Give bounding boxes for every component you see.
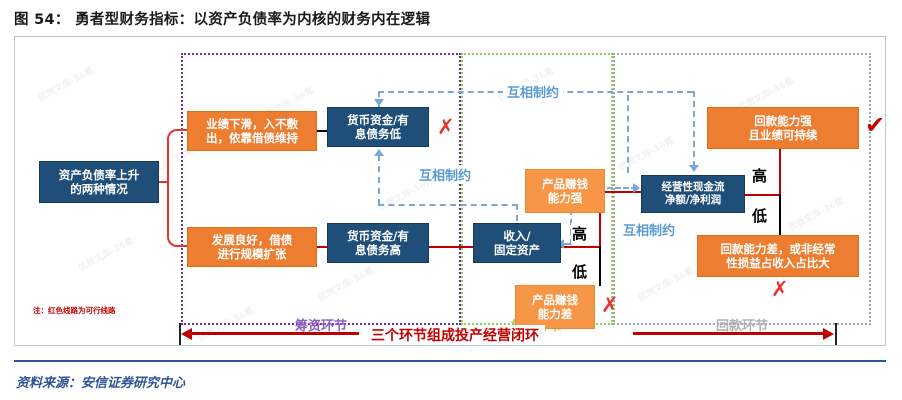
node-collection-strong-label: 回款能力强且业绩可持续	[749, 114, 818, 142]
node-collection-strong[interactable]: 回款能力强且业绩可持续	[707, 107, 859, 149]
footer-divider	[14, 360, 886, 362]
cross-icon-cash-low: ✗	[437, 117, 455, 138]
red-bracket	[167, 129, 185, 247]
cross-icon-product-weak: ✗	[601, 295, 619, 316]
edge-collsplit-down-bad	[779, 194, 781, 236]
mutual-restraint-right: 互相制约	[619, 220, 679, 239]
node-ocf-to-net-profit-label: 经营性现金流净额/净利润	[662, 181, 725, 207]
label-high-revfix: 高	[571, 223, 588, 244]
loop-tick-right	[835, 323, 837, 345]
node-performance-decline[interactable]: 业绩下滑，入不敷出，依靠借债维持	[187, 111, 317, 151]
edge-split-up-strong	[599, 213, 601, 247]
dash-right-vert	[627, 95, 629, 173]
loop-arrow-right	[633, 332, 825, 335]
node-revenue-over-fixed-assets[interactable]: 收入/固定资产	[473, 223, 561, 263]
node-product-profitability-strong[interactable]: 产品赚钱能力强	[525, 169, 605, 213]
node-cash-to-debt-low[interactable]: 货币资金/有息债务低	[327, 107, 429, 147]
dash-arrow-right-ocf	[633, 183, 640, 193]
check-icon-collection-strong: ✔	[865, 113, 885, 137]
section-financing: 筹资环节	[181, 53, 461, 325]
loop-arrowhead-right	[823, 328, 834, 340]
edge-revfix-to-split	[561, 246, 601, 248]
node-product-profitability-strong-label: 产品赚钱能力强	[542, 177, 588, 205]
loop-arrowhead-left	[181, 328, 192, 340]
node-product-profitability-weak[interactable]: 产品赚钱能力差	[515, 285, 595, 329]
node-performance-decline-label: 业绩下滑，入不敷出，依靠借债维持	[206, 117, 298, 145]
edge-ocf-to-split	[745, 194, 781, 196]
node-healthy-growth[interactable]: 发展良好，借债进行规模扩张	[187, 227, 317, 267]
diagram-frame: 优质文库-36氪 优质文库-36氪 优质文库-36氪 优质文库-36氪 优质文库…	[14, 36, 886, 346]
edge-cashhigh-to-revfix	[429, 246, 475, 248]
dash-arrow-to-ocf	[689, 165, 699, 172]
label-high-ocf: 高	[751, 165, 768, 186]
node-debt-ratio-label: 资产负债率上升的两种情况	[59, 168, 140, 196]
node-cash-to-debt-low-label: 货币资金/有息债务低	[347, 113, 409, 141]
node-product-profitability-weak-label: 产品赚钱能力差	[532, 293, 578, 321]
node-collection-weak-label: 回款能力差，或非经常性损益占收入占比大	[721, 242, 836, 270]
mutual-restraint-mid: 互相制约	[415, 165, 475, 184]
node-cash-to-debt-high[interactable]: 货币资金/有息债务高	[327, 223, 429, 263]
edge-collsplit-up-good	[779, 149, 781, 195]
label-low-ocf: 低	[751, 205, 768, 226]
node-debt-ratio[interactable]: 资产负债率上升的两种情况	[39, 161, 159, 203]
node-cash-to-debt-high-label: 货币资金/有息债务高	[347, 229, 409, 257]
dash-arrow-up-cashlow	[374, 149, 384, 156]
node-healthy-growth-label: 发展良好，借债进行规模扩张	[212, 233, 293, 261]
loop-caption: 三个环节组成投产经营闭环	[365, 325, 545, 345]
dash-prodstrong-left	[563, 243, 571, 245]
dash-mid-vert-left	[378, 155, 380, 205]
node-ocf-to-net-profit[interactable]: 经营性现金流净额/净利润	[641, 175, 745, 213]
dash-down-to-ocf	[693, 91, 695, 167]
watermark: 优质文库-36氪	[76, 233, 136, 273]
node-collection-weak[interactable]: 回款能力差，或非经常性损益占收入占比大	[697, 235, 859, 277]
label-low-revfix: 低	[571, 261, 588, 282]
watermark: 优质文库-36氪	[36, 63, 96, 103]
page-title: 图 54： 勇者型财务指标：以资产负债率为内核的财务内在逻辑	[14, 8, 430, 29]
cross-icon-collection-weak: ✗	[771, 279, 789, 300]
source-note: 资料来源：安信证券研究中心	[16, 372, 185, 391]
dash-mid-horiz	[378, 204, 518, 206]
node-revenue-over-fixed-assets-label: 收入/固定资产	[494, 229, 540, 257]
loop-arrow-left	[191, 332, 359, 335]
dash-arrow-cashlow-down	[374, 99, 384, 106]
edge-split-down-weak	[599, 246, 601, 286]
mutual-restraint-top: 互相制约	[503, 82, 563, 101]
diagram-note: 注：红色线路为可行线路	[33, 305, 116, 316]
